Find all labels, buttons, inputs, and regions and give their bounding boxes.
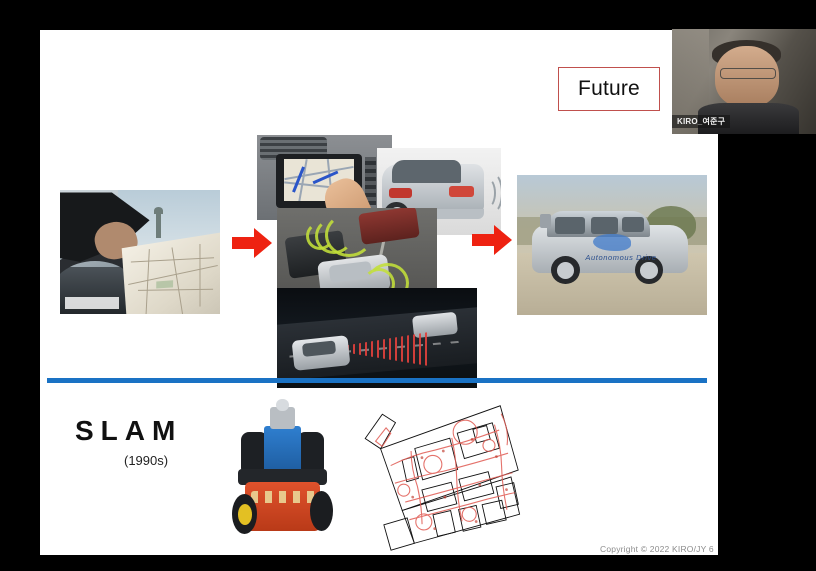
slide-title-box: Future [558, 67, 660, 111]
participant-name-label: KIRO_여준구 [672, 115, 730, 128]
image-autonomous-car: Autonomous Drive [517, 175, 707, 315]
robot-body-shape [264, 426, 302, 476]
image-slam-robot [230, 395, 335, 550]
sonar-ring [251, 491, 316, 503]
robot-wheel [310, 491, 333, 531]
image-watermark [65, 297, 119, 309]
car-window [555, 217, 585, 234]
car-decal-text: Autonomous Drive [585, 253, 656, 262]
section-subheading: (1990s) [124, 453, 168, 468]
rear-window-shape [392, 160, 461, 183]
image-slam-map [358, 393, 533, 553]
laser-scanner-icon [270, 407, 295, 429]
car-window [622, 217, 645, 232]
participant-video-tile[interactable]: KIRO_여준구 [672, 29, 816, 134]
wheel-shape [551, 256, 580, 284]
car-window [591, 217, 618, 234]
image-map-driver [60, 190, 220, 314]
page-title: Future [578, 77, 640, 101]
sensor-mast [540, 214, 551, 228]
section-divider [47, 378, 707, 383]
tail-lamp-right [449, 186, 474, 196]
ego-car-shape [292, 335, 351, 371]
arrow-right-icon [230, 226, 274, 260]
landmark-shape [156, 212, 161, 238]
occupancy-grid-map [358, 393, 533, 553]
slide-footer: Copyright © 2022 KIRO/JY 6 [600, 544, 714, 554]
screen-root: Future [0, 0, 816, 571]
section-heading: SLAM [75, 415, 182, 447]
glasses-icon [720, 68, 777, 79]
hardware-buttons-shape [365, 157, 376, 205]
arrow-right-icon [470, 223, 514, 257]
livery-graphic [593, 234, 631, 251]
tail-lamp-left [389, 188, 411, 198]
sensor-wave [481, 172, 501, 214]
ultrasonic-wave [325, 213, 373, 257]
presentation-slide: Future [40, 30, 718, 555]
image-adaptive-cruise [277, 288, 477, 388]
